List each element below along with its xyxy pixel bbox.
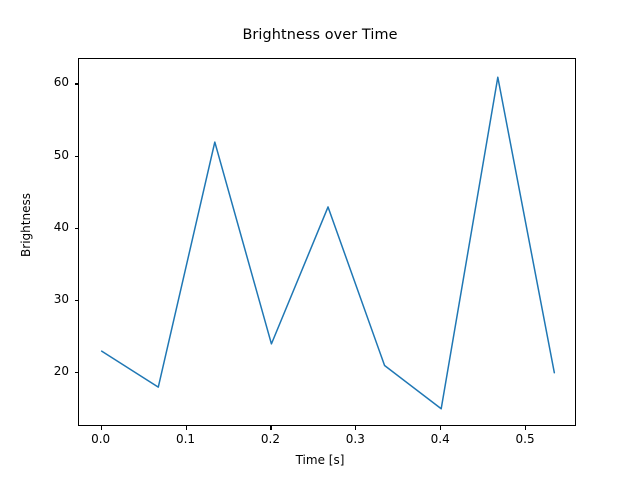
chart-title: Brightness over Time [0,27,640,43]
x-tick-label: 0.4 [410,432,470,446]
x-tick-label: 0.2 [240,432,300,446]
x-tick-label: 0.0 [71,432,131,446]
plot-area [78,58,576,426]
y-tick-label: 40 [18,220,69,234]
brightness-line-series [102,77,555,409]
y-tick-label: 50 [18,148,69,162]
plot-svg [79,59,577,427]
x-axis-label: Time [s] [0,453,640,467]
y-tick-label: 60 [18,75,69,89]
y-tick-label: 20 [18,364,69,378]
x-tick-label: 0.5 [495,432,555,446]
y-tick-label: 30 [18,292,69,306]
x-tick-label: 0.1 [156,432,216,446]
matplotlib-figure: Brightness over Time Brightness Time [s]… [0,0,640,480]
x-tick-label: 0.3 [325,432,385,446]
